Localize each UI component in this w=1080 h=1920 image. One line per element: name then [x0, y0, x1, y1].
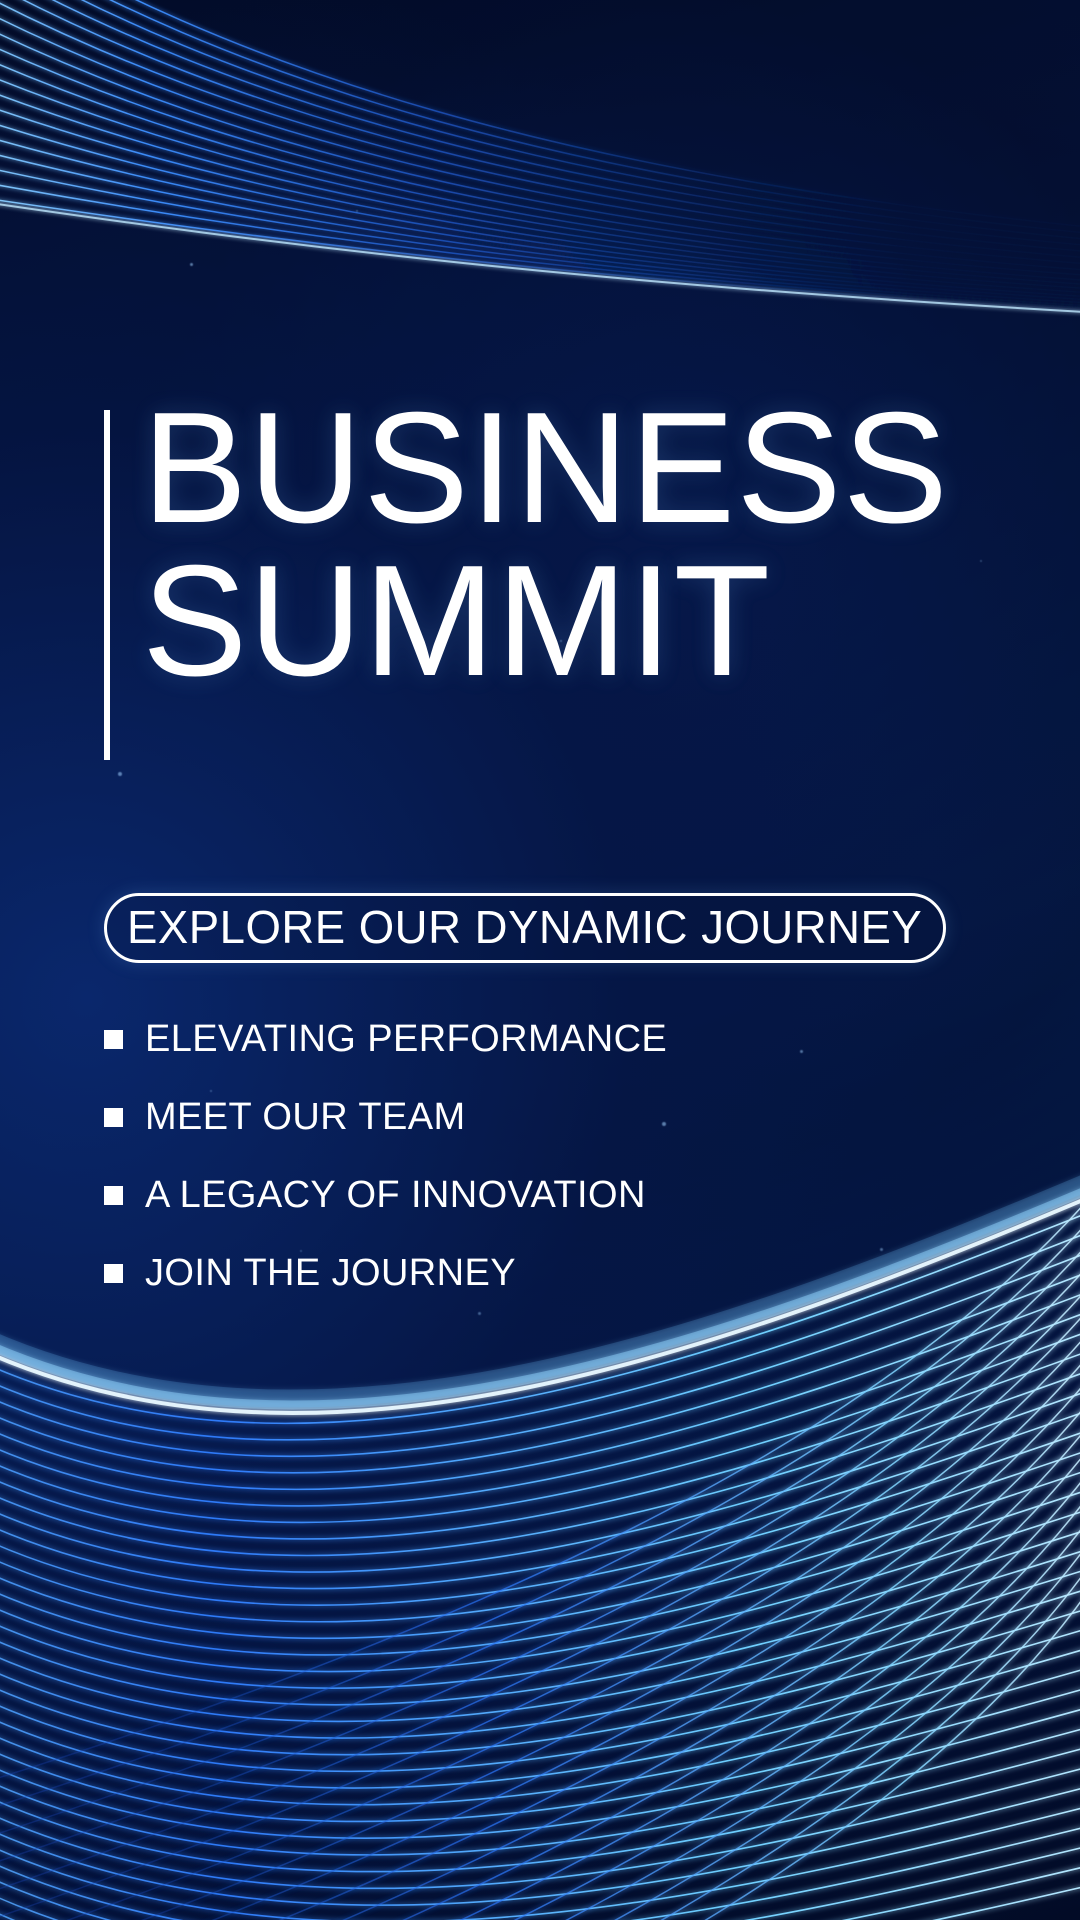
- explore-journey-button-label: EXPLORE OUR DYNAMIC JOURNEY: [127, 904, 922, 953]
- list-item[interactable]: A LEGACY OF INNOVATION: [104, 1156, 904, 1234]
- square-bullet-icon: [104, 1030, 123, 1049]
- list-item-label: JOIN THE JOURNEY: [145, 1254, 516, 1292]
- square-bullet-icon: [104, 1108, 123, 1127]
- explore-journey-button[interactable]: EXPLORE OUR DYNAMIC JOURNEY: [104, 893, 946, 963]
- list-item-label: ELEVATING PERFORMANCE: [145, 1020, 667, 1058]
- list-item-label: A LEGACY OF INNOVATION: [145, 1176, 646, 1214]
- list-item[interactable]: ELEVATING PERFORMANCE: [104, 1000, 904, 1078]
- square-bullet-icon: [104, 1264, 123, 1283]
- list-item-label: MEET OUR TEAM: [145, 1098, 466, 1136]
- title-text-block: BUSINESS SUMMIT: [142, 392, 949, 699]
- poster-canvas: BUSINESS SUMMIT EXPLORE OUR DYNAMIC JOUR…: [0, 0, 1080, 1920]
- title-accent-rule: [104, 410, 110, 760]
- list-item[interactable]: JOIN THE JOURNEY: [104, 1234, 904, 1312]
- square-bullet-icon: [104, 1186, 123, 1205]
- list-item[interactable]: MEET OUR TEAM: [104, 1078, 904, 1156]
- title-line-2: SUMMIT: [142, 545, 949, 698]
- title-line-1: BUSINESS: [142, 392, 949, 545]
- highlights-list: ELEVATING PERFORMANCE MEET OUR TEAM A LE…: [104, 1000, 904, 1312]
- page-title: BUSINESS SUMMIT: [104, 392, 949, 760]
